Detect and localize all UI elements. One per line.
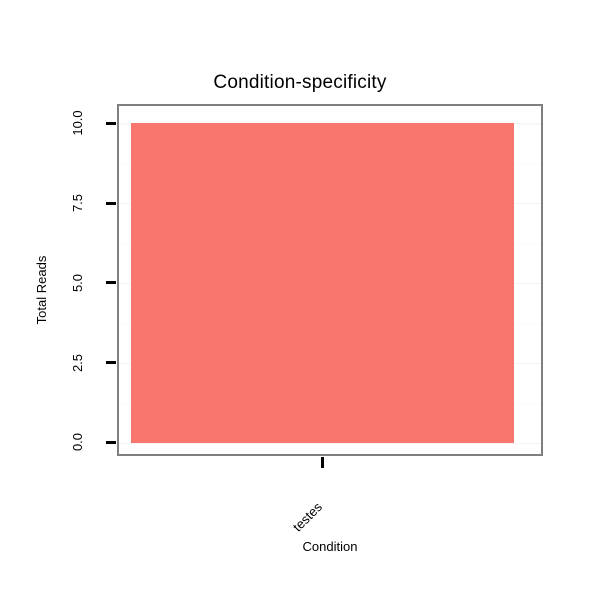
y-tick-mark-1 — [106, 361, 116, 364]
chart-title: Condition-specificity — [0, 72, 600, 94]
y-tick-label-1: 2.5 — [70, 333, 86, 393]
chart-panel — [117, 104, 543, 456]
y-axis-title: Total Reads — [32, 240, 52, 340]
y-tick-mark-2 — [106, 281, 116, 284]
y-tick-label-2: 5.0 — [70, 253, 86, 313]
chart-plot-area: Condition-specificity Total Reads 0.0 2.… — [0, 0, 600, 600]
bar-testes[interactable] — [131, 123, 514, 443]
gridline-major-0 — [119, 443, 541, 444]
y-tick-label-0: 0.0 — [70, 412, 86, 472]
y-tick-label-4: 10.0 — [70, 93, 86, 153]
y-tick-mark-0 — [106, 441, 116, 444]
x-tick-mark-0 — [321, 457, 324, 468]
y-tick-mark-4 — [106, 122, 116, 125]
y-tick-mark-3 — [106, 202, 116, 205]
x-axis-title: Condition — [117, 538, 543, 556]
y-tick-label-3: 7.5 — [70, 173, 86, 233]
